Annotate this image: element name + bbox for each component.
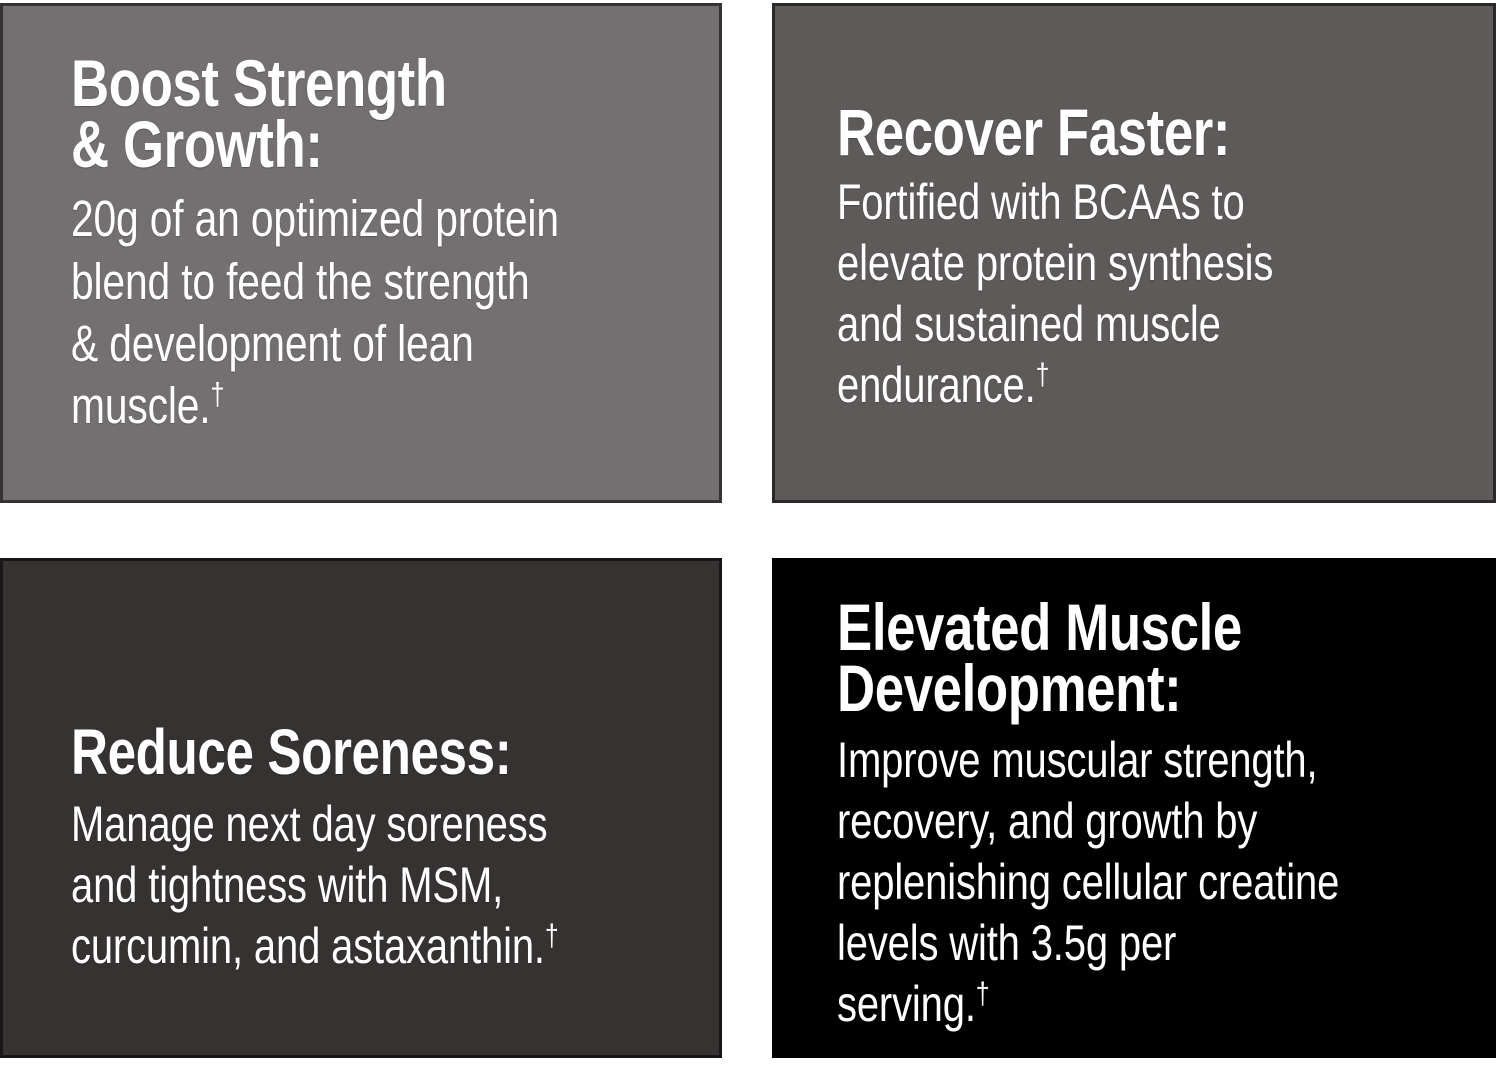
- panel-body: 20g of an optimized protein blend to fee…: [71, 188, 562, 437]
- benefit-card-boost-strength-growth: Boost Strength & Growth: 20g of an optim…: [0, 3, 722, 503]
- panel-content: Reduce Soreness: Manage next day sorenes…: [3, 723, 719, 977]
- panel-body: Improve muscular strength, recovery, and…: [837, 730, 1339, 1035]
- panel-body-text: 20g of an optimized protein blend to fee…: [71, 190, 559, 434]
- panel-content: Boost Strength & Growth: 20g of an optim…: [3, 53, 719, 437]
- panel-body: Manage next day soreness and tightness w…: [71, 794, 562, 977]
- panel-body-text: Improve muscular strength, recovery, and…: [837, 732, 1339, 1032]
- footnote-dagger-icon: †: [1036, 357, 1050, 392]
- footnote-dagger-icon: †: [210, 376, 224, 412]
- panel-content: Recover Faster: Fortified with BCAAs to …: [775, 102, 1493, 417]
- panel-content: Elevated Muscle Development: Improve mus…: [775, 597, 1493, 1035]
- panel-body-text: Fortified with BCAAs to elevate protein …: [837, 174, 1273, 413]
- panel-heading: Reduce Soreness:: [71, 723, 562, 782]
- benefit-grid: Boost Strength & Growth: 20g of an optim…: [0, 0, 1500, 1066]
- footnote-dagger-icon: †: [545, 917, 559, 952]
- panel-heading: Recover Faster:: [837, 102, 1339, 163]
- benefit-card-elevated-muscle-development: Elevated Muscle Development: Improve mus…: [772, 558, 1496, 1058]
- panel-body: Fortified with BCAAs to elevate protein …: [837, 172, 1339, 416]
- benefit-card-reduce-soreness: Reduce Soreness: Manage next day sorenes…: [0, 558, 722, 1058]
- panel-heading: Elevated Muscle Development:: [837, 597, 1339, 718]
- panel-heading: Boost Strength & Growth:: [71, 53, 562, 174]
- panel-body-text: Manage next day soreness and tightness w…: [71, 796, 547, 974]
- footnote-dagger-icon: †: [976, 976, 990, 1011]
- benefit-card-recover-faster: Recover Faster: Fortified with BCAAs to …: [772, 3, 1496, 503]
